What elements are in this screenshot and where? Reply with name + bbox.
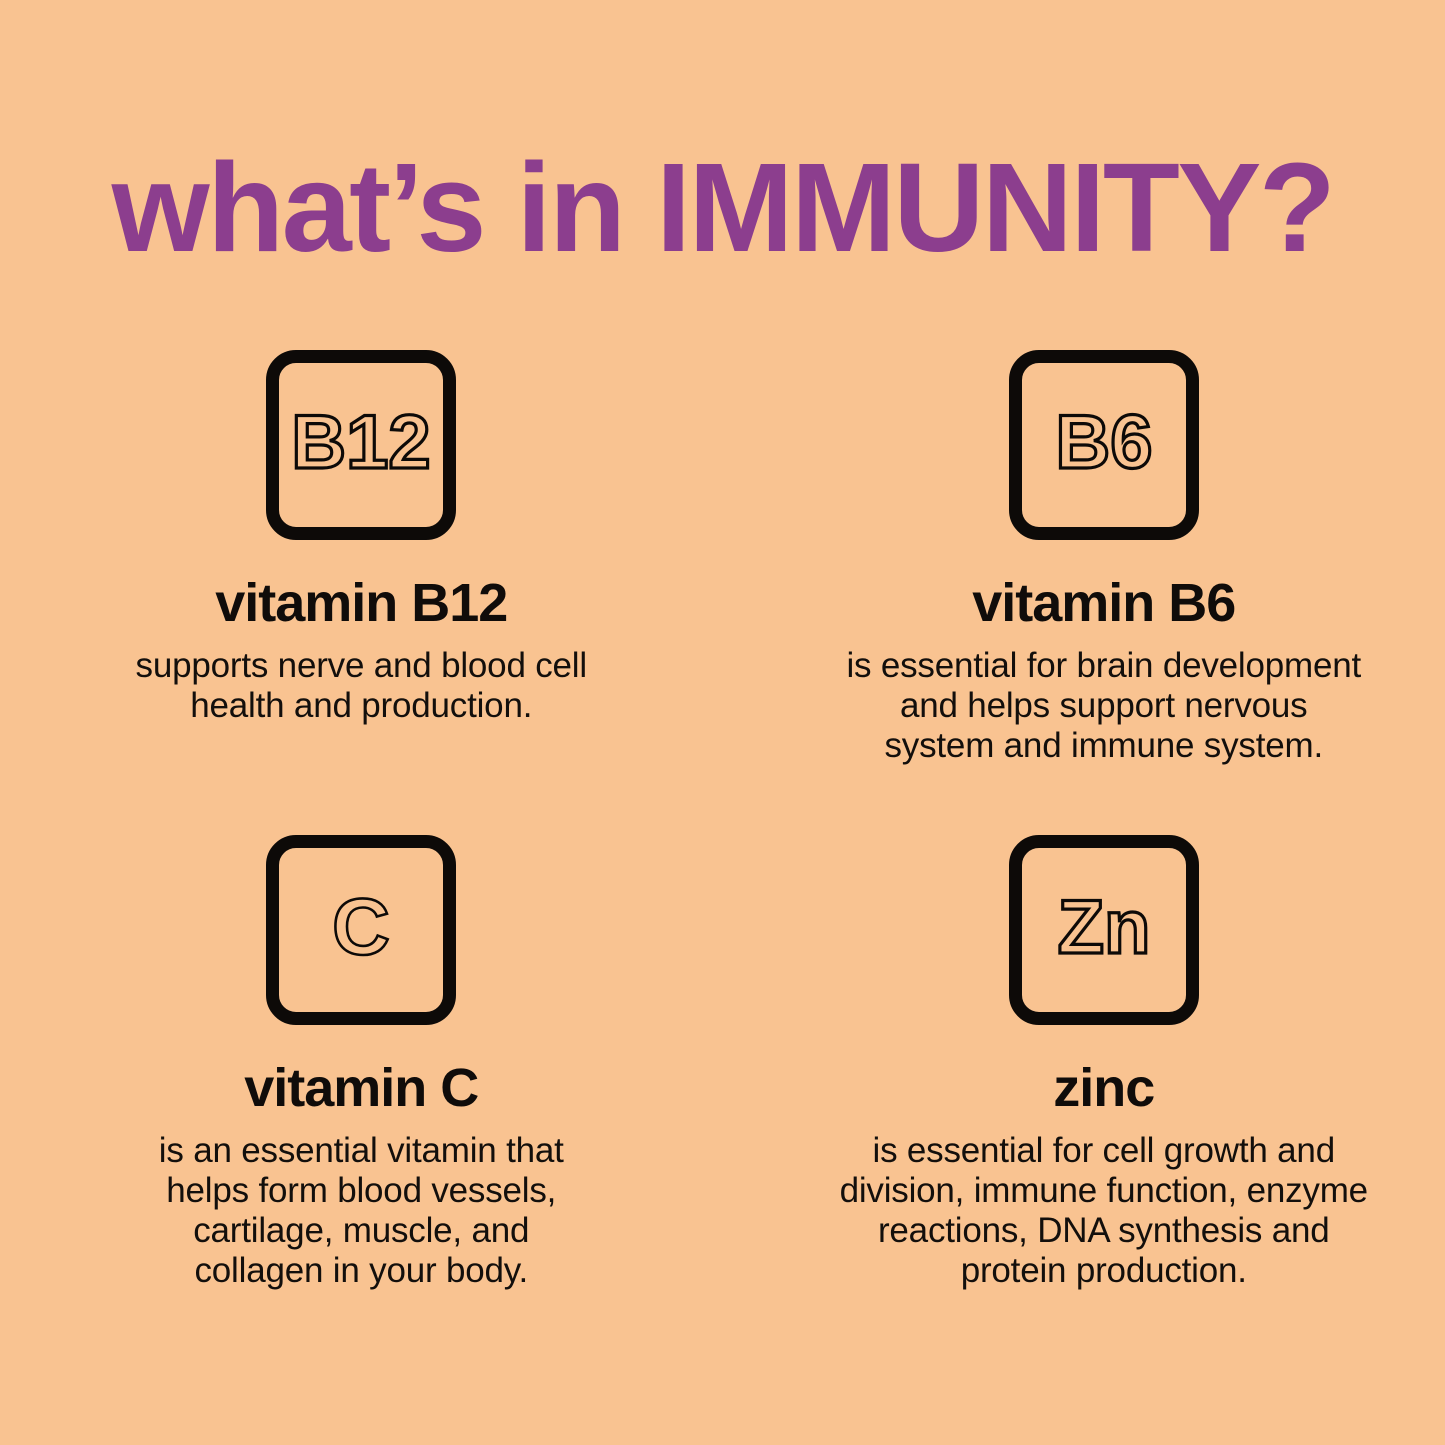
nutrient-heading-b12: vitamin B12 [215, 574, 507, 632]
nutrient-heading-zinc: zinc [1053, 1059, 1154, 1117]
zinc-icon: Zn [1009, 835, 1199, 1025]
nutrient-body-zinc: is essential for cell growth and divisio… [840, 1131, 1368, 1291]
vitamin-b6-icon: B6 [1009, 350, 1199, 540]
nutrient-body-vitamin-c: is an essential vitamin that helps form … [159, 1131, 564, 1291]
immunity-ingredients-poster: what’s in IMMUNITY? B12 vitamin B12 supp… [0, 0, 1445, 1445]
nutrient-card-zinc: Zn zinc is essential for cell growth and… [723, 835, 1445, 1320]
nutrient-body-b12: supports nerve and blood cell health and… [136, 646, 587, 726]
page-title: what’s in IMMUNITY? [0, 140, 1445, 276]
vitamin-b12-icon: B12 [266, 350, 456, 540]
nutrient-heading-vitamin-c: vitamin C [244, 1059, 478, 1117]
vitamin-b6-icon-label: B6 [1055, 400, 1152, 485]
vitamin-c-icon: C [266, 835, 456, 1025]
nutrient-heading-b6: vitamin B6 [972, 574, 1235, 632]
vitamin-c-icon-label: C [332, 882, 390, 971]
nutrient-card-b6: B6 vitamin B6 is essential for brain dev… [723, 350, 1445, 835]
nutrient-card-vitamin-c: C vitamin C is an essential vitamin that… [0, 835, 723, 1320]
nutrient-body-b6: is essential for brain development and h… [846, 646, 1361, 766]
zinc-icon-label: Zn [1057, 885, 1150, 970]
vitamin-b12-icon-label: B12 [292, 400, 431, 485]
nutrient-card-b12: B12 vitamin B12 supports nerve and blood… [0, 350, 723, 835]
nutrient-grid: B12 vitamin B12 supports nerve and blood… [0, 350, 1445, 1320]
